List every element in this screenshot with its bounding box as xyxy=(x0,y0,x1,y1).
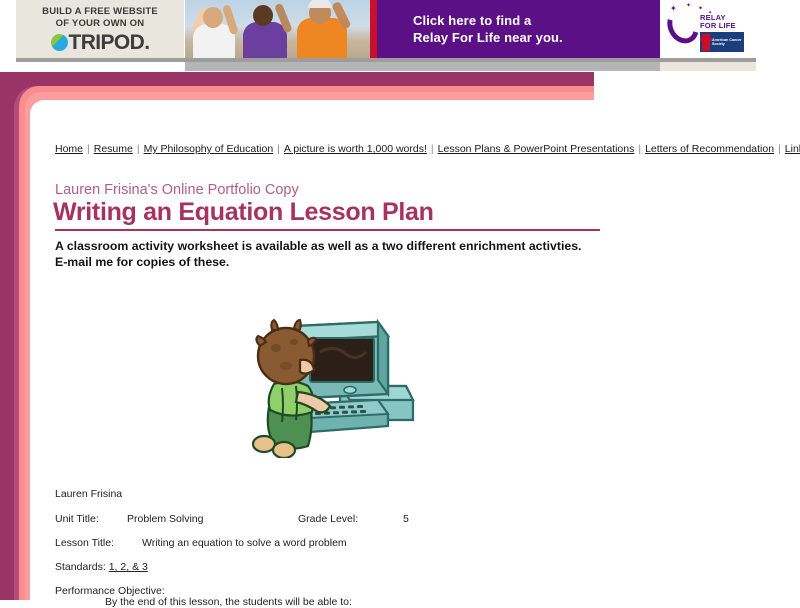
tripod-ad-panel[interactable]: BUILD A FREE WEBSITE OF YOUR OWN ON TRIP… xyxy=(16,0,184,58)
tripod-logo: TRIPOD. xyxy=(51,32,150,53)
tripod-ad-line1: BUILD A FREE WEBSITE xyxy=(42,6,158,18)
intro-paragraph: A classroom activity worksheet is availa… xyxy=(55,239,615,270)
advertisement-banner[interactable]: BUILD A FREE WEBSITE OF YOUR OWN ON TRIP… xyxy=(0,0,800,58)
nav-link-resume[interactable]: Resume xyxy=(94,143,133,155)
star-icon: ✦ xyxy=(670,5,677,13)
cta-line1: Click here to find a xyxy=(413,12,660,29)
relay-for-life-cta[interactable]: Click here to find a Relay For Life near… xyxy=(377,0,660,58)
site-subtitle: Lauren Frisina's Online Portfolio Copy xyxy=(55,182,299,198)
grade-level-value: 5 xyxy=(403,513,409,525)
nav-separator: | xyxy=(427,143,438,155)
nav-link-philosophy[interactable]: My Philosophy of Education xyxy=(144,143,274,155)
nav-separator: | xyxy=(634,143,645,155)
intro-line1: A classroom activity worksheet is availa… xyxy=(55,239,615,255)
site-navigation[interactable]: Home|Resume|My Philosophy of Education|A… xyxy=(55,142,608,157)
photo-figure-3 xyxy=(297,18,347,58)
photo-figure-2-head xyxy=(253,5,273,26)
performance-objective-text: By the end of this lesson, the students … xyxy=(105,596,352,608)
acs-wordmark: American Cancer Society xyxy=(712,38,742,47)
standards-label: Standards: xyxy=(55,561,106,573)
nav-link-letters[interactable]: Letters of Recommendation xyxy=(645,143,774,155)
nav-separator: | xyxy=(83,143,94,155)
grade-level-label: Grade Level: xyxy=(298,513,358,525)
lesson-title-value: Writing an equation to solve a word prob… xyxy=(142,537,347,549)
standards-row: Standards: 1, 2, & 3 xyxy=(55,561,148,573)
relay-for-life-photo xyxy=(185,0,370,58)
lesson-unit-row: Unit Title: Problem Solving Grade Level:… xyxy=(55,513,99,525)
page-title: Writing an Equation Lesson Plan xyxy=(53,198,434,227)
ad-red-divider xyxy=(370,0,377,58)
cta-line2: Relay For Life near you. xyxy=(413,29,660,46)
intro-line2: E-mail me for copies of these. xyxy=(55,255,615,271)
unit-title-label: Unit Title: xyxy=(55,513,99,525)
ad-gray-strip-left xyxy=(16,62,185,71)
unit-title-value: Problem Solving xyxy=(127,513,203,525)
photo-figure-2 xyxy=(243,22,287,58)
rfl-wordmark: RELAY FOR LIFE xyxy=(700,14,736,30)
photo-figure-1-head xyxy=(203,7,223,28)
nav-separator: | xyxy=(133,143,144,155)
lesson-title-row: Lesson Title: Writing an equation to sol… xyxy=(55,537,114,549)
lesson-title-label: Lesson Title: xyxy=(55,537,114,549)
nav-separator: | xyxy=(273,143,284,155)
child-at-computer-clipart xyxy=(238,308,423,458)
nav-link-picture[interactable]: A picture is worth 1,000 words! xyxy=(284,143,427,155)
nav-link-links[interactable]: Links xyxy=(785,143,800,155)
photo-figure-3-cap xyxy=(308,0,332,8)
nav-separator: | xyxy=(774,143,785,155)
rfl-line2: FOR LIFE xyxy=(700,22,736,30)
star-icon: ✦ xyxy=(698,5,703,13)
acs-line2: Society xyxy=(712,42,742,46)
lesson-author: Lauren Frisina xyxy=(55,488,122,500)
acs-sword-icon xyxy=(702,34,710,51)
star-icon: ✦ xyxy=(686,2,691,10)
tripod-ad-line2: OF YOUR OWN ON xyxy=(56,18,145,30)
american-cancer-society-badge: American Cancer Society xyxy=(700,32,744,52)
nav-link-lesson-plans[interactable]: Lesson Plans & PowerPoint Presentations xyxy=(438,143,635,155)
nav-link-home[interactable]: Home xyxy=(55,143,83,155)
tripod-wordmark: TRIPOD. xyxy=(69,32,150,53)
relay-for-life-logo: ✦ ✦ ✦ ✦ RELAY FOR LIFE American Cancer S… xyxy=(660,0,756,58)
title-underline xyxy=(55,229,600,231)
standards-link[interactable]: 1, 2, & 3 xyxy=(109,561,148,573)
tripod-circle-icon xyxy=(51,34,68,51)
